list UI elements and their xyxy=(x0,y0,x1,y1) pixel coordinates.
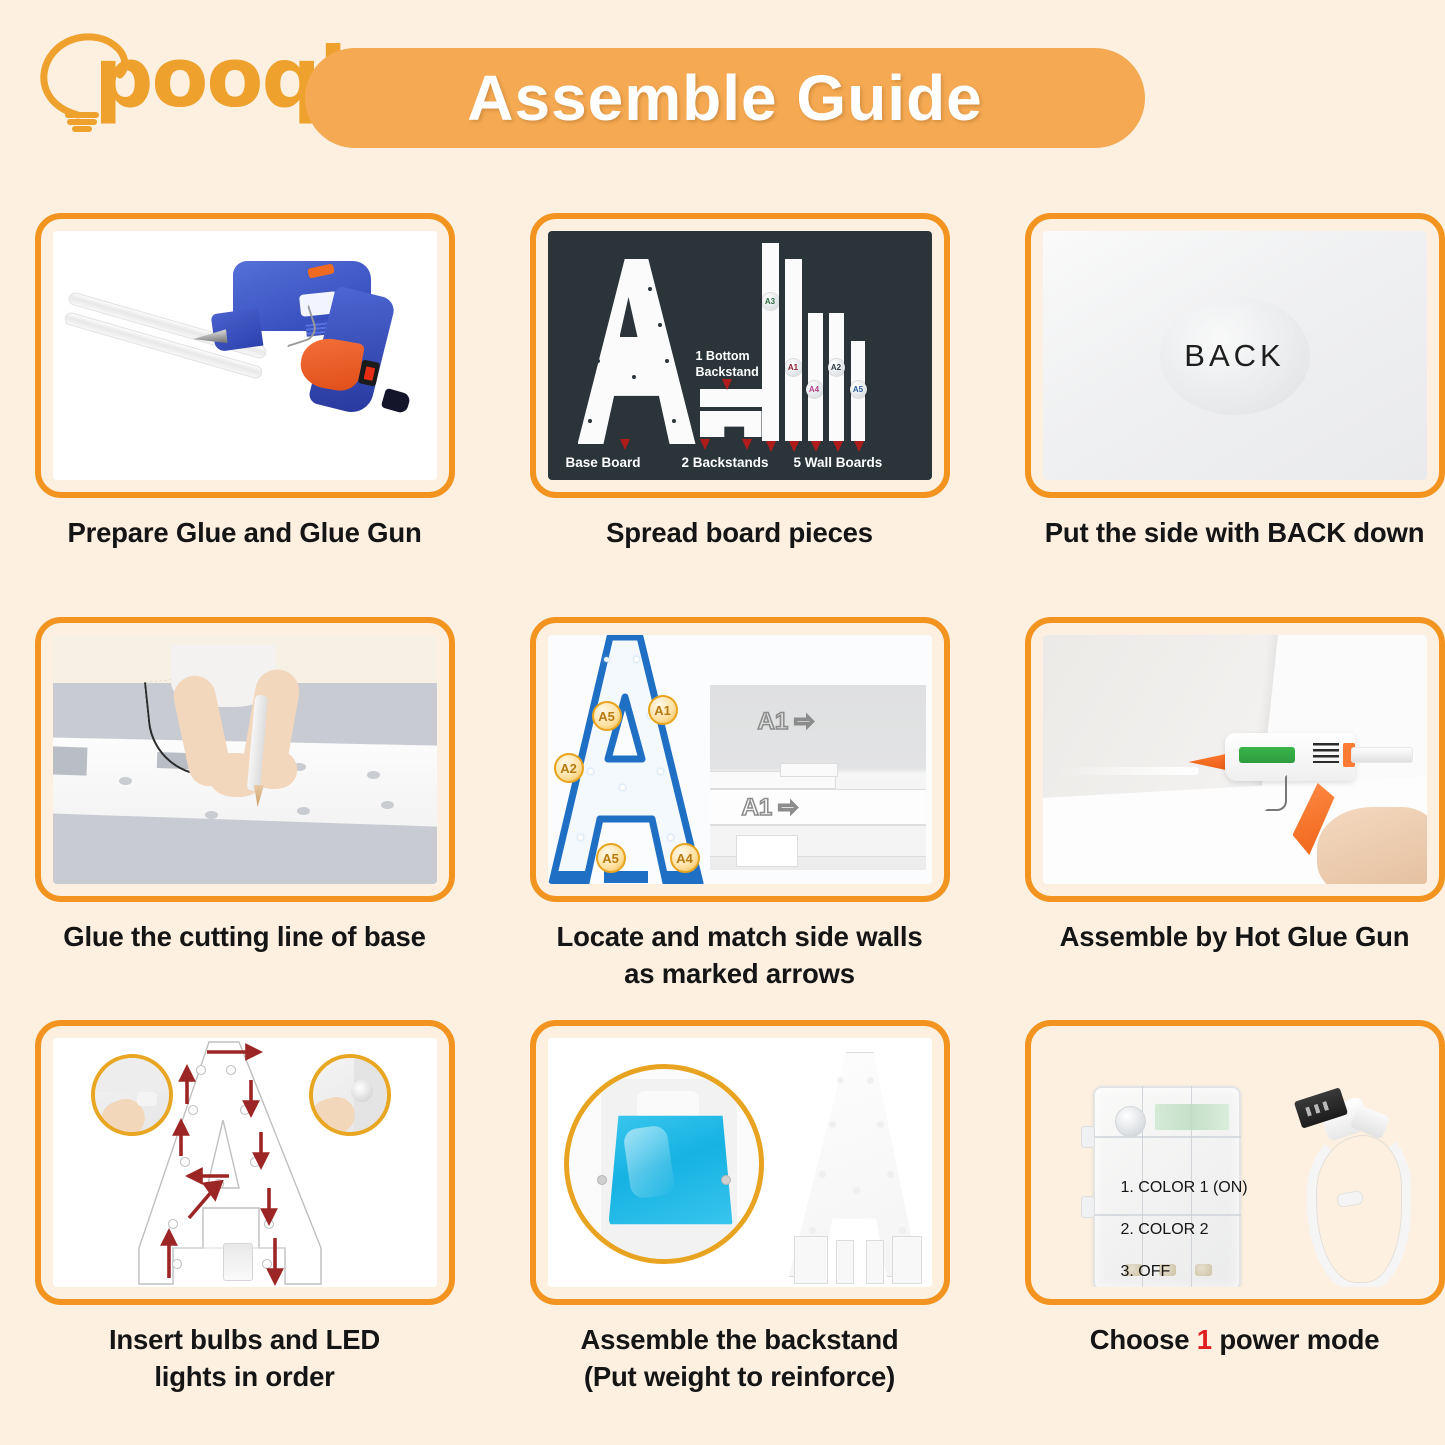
bulb-hole xyxy=(119,777,132,785)
marker-a5: A5 xyxy=(850,381,867,398)
page-header: pooqla Assemble Guide xyxy=(0,0,1445,190)
power-mode-photo: 1. COLOR 1 (ON) 2. COLOR 2 3. OFF xyxy=(1043,1038,1427,1287)
bulb-hole xyxy=(381,801,394,809)
bulb-hole xyxy=(868,1078,873,1083)
usb-cable xyxy=(1281,1086,1421,1287)
glue-stick-icon xyxy=(1351,747,1413,763)
step-5-caption-line2: as marked arrows xyxy=(513,955,966,992)
hot-glue-assemble-photo xyxy=(1043,635,1427,884)
backstand-weight-diagram xyxy=(548,1038,932,1287)
backstand-left xyxy=(794,1236,828,1284)
glue-gun-trigger xyxy=(297,334,365,394)
bulb-hole xyxy=(838,1078,843,1083)
wall-strip-tab xyxy=(780,763,838,777)
marker-a2: A2 xyxy=(828,359,845,376)
right-arrow-icon: ⇨ xyxy=(794,707,814,736)
pointer-arrow-icon xyxy=(766,441,776,452)
step-card-4: Glue the cutting line of base xyxy=(18,617,471,955)
inset-photo-insert-bulb xyxy=(91,1054,173,1136)
back-label-text: BACK xyxy=(1184,338,1284,374)
board-pieces-diagram: A3 A1 A4 A2 A5 1 Bottom Backstand xyxy=(548,231,932,480)
power-mode-line-1: 1. COLOR 1 (ON) xyxy=(1121,1177,1248,1198)
glue-gun-cord-cap xyxy=(380,388,411,414)
step-9-image-frame: 1. COLOR 1 (ON) 2. COLOR 2 3. OFF xyxy=(1025,1020,1445,1305)
bulb-hole xyxy=(665,359,669,363)
screw-icon xyxy=(597,1175,607,1185)
step-6-caption: Assemble by Hot Glue Gun xyxy=(1008,918,1445,955)
label-2-backstands: 2 Backstands xyxy=(682,455,769,471)
bulb-hole xyxy=(888,1172,893,1177)
marker-a4: A4 xyxy=(670,843,700,873)
right-arrow-icon: ⇨ xyxy=(778,793,798,822)
marker-a1: A1 xyxy=(785,359,802,376)
step-card-7: Insert bulbs and LED lights in order xyxy=(18,1020,471,1395)
step-card-3: BACK Put the side with BACK down xyxy=(1008,213,1445,551)
box-latch xyxy=(1081,1126,1095,1148)
step-8-image-frame xyxy=(530,1020,950,1305)
glue-bead xyxy=(1059,767,1199,775)
step-2-image-frame: A3 A1 A4 A2 A5 1 Bottom Backstand xyxy=(530,213,950,498)
lightbulb-icon: pooqla xyxy=(22,19,292,137)
wall-strip-photo: A1 ⇨ A1 ⇨ xyxy=(710,685,926,870)
step-7-caption: Insert bulbs and LED lights in order xyxy=(18,1321,471,1395)
step-1-image-frame xyxy=(35,213,455,498)
step-9-caption-prefix: Choose xyxy=(1090,1324,1197,1355)
steps-grid: Prepare Glue and Glue Gun xyxy=(0,195,1445,1445)
step-1-caption: Prepare Glue and Glue Gun xyxy=(18,514,471,551)
step-8-caption-line2: (Put weight to reinforce) xyxy=(513,1358,966,1395)
glue-cutting-line-photo xyxy=(53,635,437,884)
step-5-caption: Locate and match side walls as marked ar… xyxy=(513,918,966,992)
box-latch xyxy=(1081,1196,1095,1218)
bulb-hole xyxy=(610,287,614,291)
bulb-hole xyxy=(602,323,606,327)
battery-box xyxy=(223,1243,253,1281)
led-routing-diagram xyxy=(53,1038,437,1287)
screw-icon xyxy=(721,1175,731,1185)
backstand-right xyxy=(892,1236,922,1284)
backstand-middle xyxy=(866,1240,884,1284)
bulb-hole xyxy=(588,419,592,423)
label-base-board: Base Board xyxy=(566,455,641,471)
step-card-2: A3 A1 A4 A2 A5 1 Bottom Backstand xyxy=(513,213,966,551)
step-8-caption: Assemble the backstand (Put weight to re… xyxy=(513,1321,966,1395)
bulb-hole xyxy=(668,835,673,840)
pointer-arrow-icon xyxy=(722,379,732,390)
strip-label-a1-bottom: A1 ⇨ xyxy=(742,793,799,822)
bulb-hole xyxy=(620,785,625,790)
bulb-hole xyxy=(588,769,593,774)
page-title-banner: Assemble Guide xyxy=(305,48,1145,148)
bulb-hole xyxy=(658,769,663,774)
wall-board-a4 xyxy=(808,313,823,441)
circuit-board xyxy=(1155,1104,1229,1130)
wall-board-a2 xyxy=(829,313,844,441)
marker-a1: A1 xyxy=(648,695,678,725)
pointer-arrow-icon xyxy=(811,441,821,452)
strip-label-text: A1 xyxy=(758,708,789,736)
step-card-8: Assemble the backstand (Put weight to re… xyxy=(513,1020,966,1395)
inset-photo-twist-bulb xyxy=(309,1054,391,1136)
step-card-9: 1. COLOR 1 (ON) 2. COLOR 2 3. OFF xyxy=(1008,1020,1445,1358)
inset-photo-water-bag xyxy=(564,1064,764,1264)
step-5-caption-line1: Locate and match side walls xyxy=(513,918,966,955)
marker-a5-top: A5 xyxy=(592,701,622,731)
glue-gun-vents xyxy=(1313,743,1339,763)
bulb-hole xyxy=(367,771,380,779)
strip-label-a1-top: A1 ⇨ xyxy=(758,707,815,736)
step-7-caption-line2: lights in order xyxy=(18,1358,471,1395)
step-9-caption: Choose 1 power mode xyxy=(1008,1321,1445,1358)
pointer-arrow-icon xyxy=(789,441,799,452)
step-4-caption: Glue the cutting line of base xyxy=(18,918,471,955)
power-mode-line-2: 2. COLOR 2 xyxy=(1121,1219,1248,1240)
bulb-hole xyxy=(820,1172,825,1177)
power-mode-line-3: 3. OFF xyxy=(1121,1261,1248,1282)
backstand-middle xyxy=(836,1240,854,1284)
label-5-wall-boards: 5 Wall Boards xyxy=(794,455,883,471)
glue-gun-brand-label xyxy=(1239,747,1295,763)
glue-gun-illustration xyxy=(53,231,437,480)
person-hand xyxy=(309,1093,359,1136)
wall-board-a1 xyxy=(785,259,802,441)
water-bag-highlight xyxy=(622,1124,675,1199)
bulb-hole xyxy=(648,287,652,291)
glue-gun-stand-wire xyxy=(1265,775,1287,811)
strip-label-text: A1 xyxy=(742,794,773,822)
pointer-arrow-icon xyxy=(620,439,630,450)
step-6-image-frame xyxy=(1025,617,1445,902)
brand-logo: pooqla xyxy=(22,18,292,138)
board-slot xyxy=(53,746,87,775)
step-card-1: Prepare Glue and Glue Gun xyxy=(18,213,471,551)
wall-board-a3 xyxy=(762,243,779,441)
power-mode-label: 1. COLOR 1 (ON) 2. COLOR 2 3. OFF xyxy=(1121,1156,1248,1287)
base-board-letter-a xyxy=(578,259,696,444)
step-8-caption-line1: Assemble the backstand xyxy=(513,1321,966,1358)
step-3-image-frame: BACK xyxy=(1025,213,1445,498)
step-card-6: Assemble by Hot Glue Gun xyxy=(1008,617,1445,955)
bulb-hole xyxy=(578,835,583,840)
marker-a2: A2 xyxy=(554,753,584,783)
pointer-arrow-icon xyxy=(854,441,864,452)
step-9-caption-highlight: 1 xyxy=(1197,1324,1212,1355)
side-wall-matching-diagram: A5 A1 A2 A5 A4 A1 ⇨ xyxy=(548,635,932,884)
bulb-hole xyxy=(830,1122,835,1127)
bulb-hole xyxy=(658,323,662,327)
step-3-caption: Put the side with BACK down xyxy=(1008,514,1445,551)
marker-a5-bottom: A5 xyxy=(596,843,626,873)
label-bottom-backstand-line2: Backstand xyxy=(696,365,759,380)
pointer-arrow-icon xyxy=(700,439,710,450)
bulb-hole xyxy=(632,375,636,379)
bulb-hole xyxy=(205,811,218,819)
page-title: Assemble Guide xyxy=(467,61,983,135)
led-lens-icon xyxy=(1115,1106,1146,1137)
pointer-arrow-icon xyxy=(742,439,752,450)
step-2-caption: Spread board pieces xyxy=(513,514,966,551)
bulb-hole xyxy=(596,359,600,363)
bulb-hole xyxy=(878,1122,883,1127)
box-seam xyxy=(1093,1136,1241,1138)
person-hand xyxy=(1317,807,1427,884)
step-7-image-frame xyxy=(35,1020,455,1305)
step-5-image-frame: A5 A1 A2 A5 A4 A1 ⇨ xyxy=(530,617,950,902)
usb-cable-loop xyxy=(1307,1126,1411,1287)
bulb-hole xyxy=(900,1228,905,1233)
step-4-image-frame xyxy=(35,617,455,902)
step-9-caption-suffix: power mode xyxy=(1212,1324,1379,1355)
bulb-hole xyxy=(604,657,609,662)
marker-a3: A3 xyxy=(762,293,779,310)
label-bottom-backstand-line1: 1 Bottom xyxy=(696,349,750,364)
bulb-hole xyxy=(810,1228,815,1233)
pointer-arrow-icon xyxy=(833,441,843,452)
step-7-caption-line1: Insert bulbs and LED xyxy=(18,1321,471,1358)
bulb-hole xyxy=(672,419,676,423)
back-board-photo: BACK xyxy=(1043,231,1427,480)
step-card-5: A5 A1 A2 A5 A4 A1 ⇨ xyxy=(513,617,966,992)
bulb-hole xyxy=(634,657,639,662)
glue-gun-barrel xyxy=(210,308,263,352)
backstand-piece xyxy=(700,389,762,407)
backstand-piece xyxy=(700,411,762,437)
bulb-hole xyxy=(297,807,310,815)
marker-a4: A4 xyxy=(806,381,823,398)
wall-strip-tab xyxy=(736,835,798,867)
bulb-hole xyxy=(854,1188,859,1193)
